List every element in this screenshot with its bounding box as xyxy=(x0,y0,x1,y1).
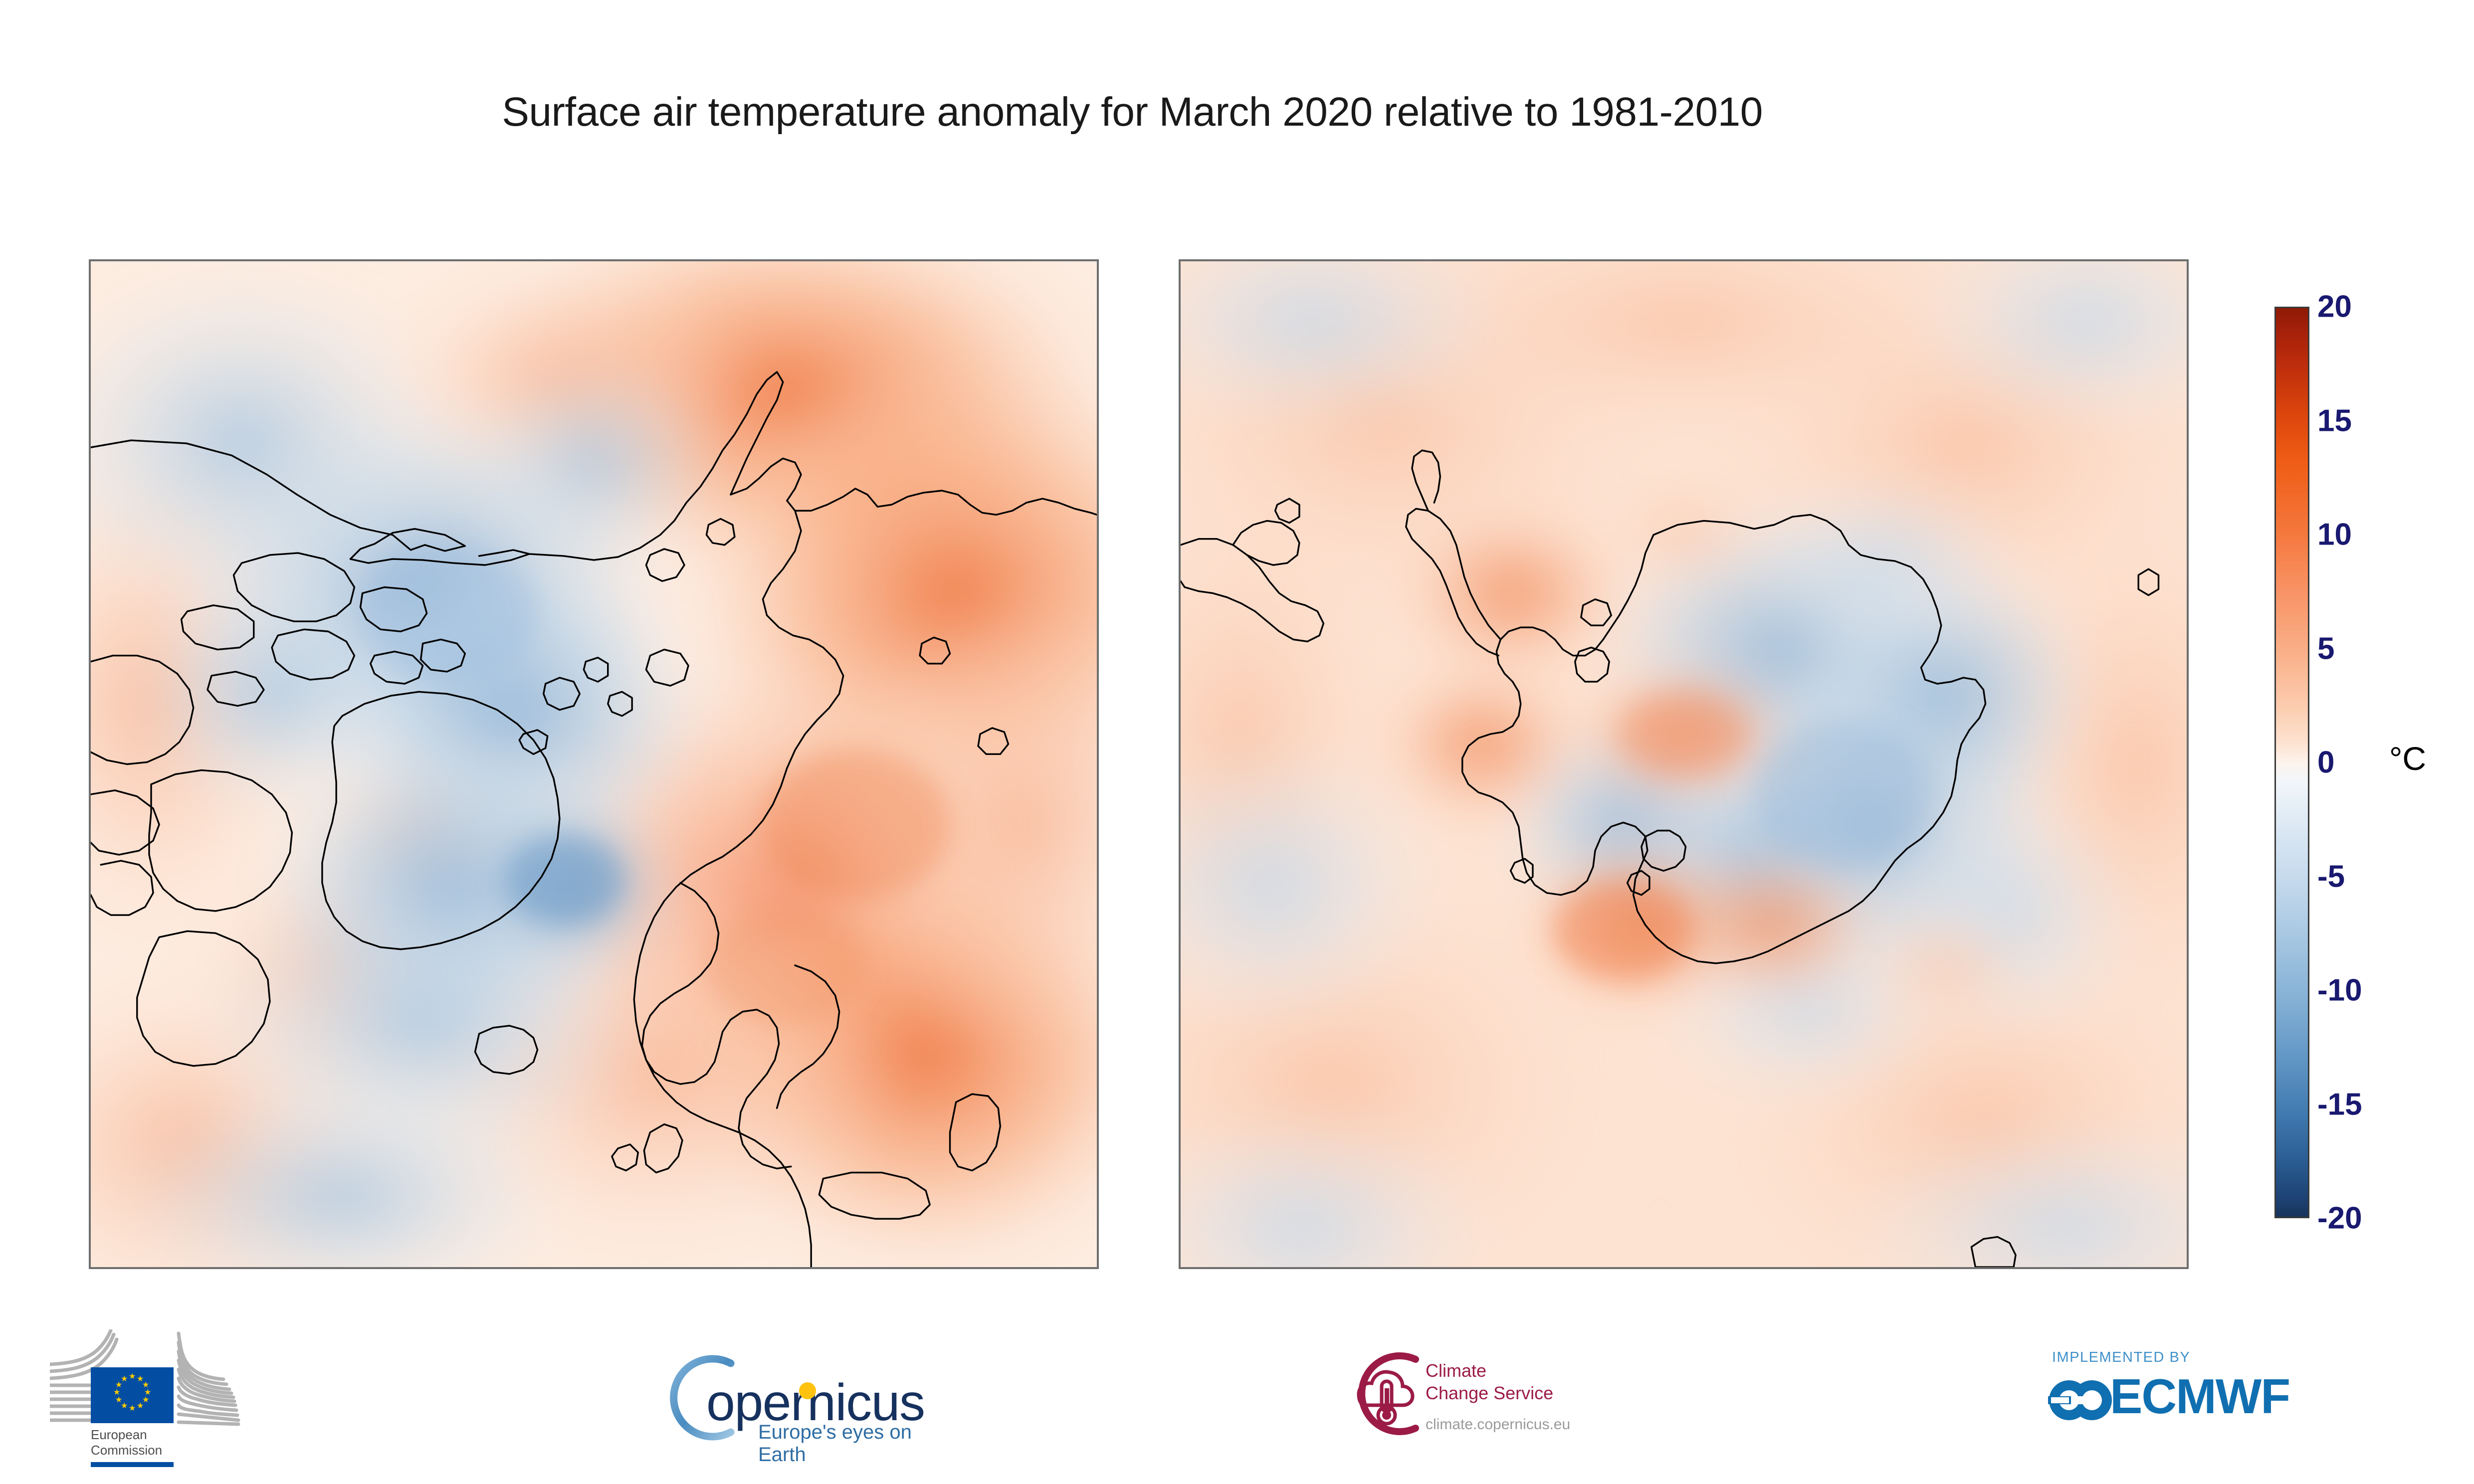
figure-root: Surface air temperature anomaly for Marc… xyxy=(0,0,2474,1484)
c3s-name: Climate Change Service xyxy=(1426,1359,1553,1404)
colorbar-tick-neg5: -5 xyxy=(2317,859,2345,894)
colorbar-tick-10: 10 xyxy=(2317,517,2352,553)
page-title: Surface air temperature anomaly for Marc… xyxy=(0,89,2265,136)
logo-strip: ★ ★ ★ ★ ★ ★ ★ ★ ★ ★ ★ ★ European Commiss… xyxy=(0,1316,2474,1484)
colorbar-gradient xyxy=(2274,307,2309,1218)
logo-ecmwf: IMPLEMENTED BY ECMWF xyxy=(2030,1349,2309,1449)
map-panel-antarctic xyxy=(1179,259,2189,1269)
copernicus-tagline: Europe's eyes on Earth xyxy=(758,1421,923,1466)
ec-label-line1: European xyxy=(91,1427,215,1443)
logo-copernicus: opernicus Europe's eyes on Earth xyxy=(643,1345,923,1455)
c3s-name-line2: Change Service xyxy=(1426,1382,1553,1404)
arctic-coastlines xyxy=(91,261,1097,1267)
colorbar-tick-neg10: -10 xyxy=(2317,973,2362,1008)
ecmwf-wordmark: ECMWF xyxy=(2110,1368,2289,1425)
ec-underline xyxy=(91,1462,174,1467)
colorbar-tick-5: 5 xyxy=(2317,631,2334,666)
ec-label: European Commission xyxy=(91,1427,215,1458)
colorbar-tick-neg20: -20 xyxy=(2317,1201,2362,1236)
colorbar-tick-20: 20 xyxy=(2317,289,2352,325)
c3s-cloud-thermometer-icon xyxy=(1342,1346,1432,1441)
eu-flag-icon: ★ ★ ★ ★ ★ ★ ★ ★ ★ ★ ★ ★ xyxy=(91,1367,174,1423)
logo-c3s: Climate Change Service climate.copernicu… xyxy=(1342,1343,1661,1458)
colorbar: 20 15 10 5 0 -5 -10 -15 -20 xyxy=(2274,307,2309,1218)
copernicus-yellow-dot-icon xyxy=(799,1382,816,1399)
colorbar-tick-15: 15 xyxy=(2317,403,2352,438)
ecmwf-implemented-by-label: IMPLEMENTED BY xyxy=(2052,1349,2190,1366)
colorbar-tick-0: 0 xyxy=(2317,745,2334,780)
colorbar-unit-label: °C xyxy=(2389,740,2426,777)
antarctic-coastlines xyxy=(1181,261,2187,1267)
map-panel-arctic xyxy=(89,259,1099,1269)
ecmwf-double-c-icon xyxy=(2048,1373,2113,1427)
c3s-url: climate.copernicus.eu xyxy=(1426,1416,1570,1433)
colorbar-tick-neg15: -15 xyxy=(2317,1087,2362,1122)
ec-label-line2: Commission xyxy=(91,1443,215,1458)
logo-european-commission: ★ ★ ★ ★ ★ ★ ★ ★ ★ ★ ★ ★ European Commiss… xyxy=(50,1329,259,1479)
c3s-name-line1: Climate xyxy=(1426,1359,1553,1382)
